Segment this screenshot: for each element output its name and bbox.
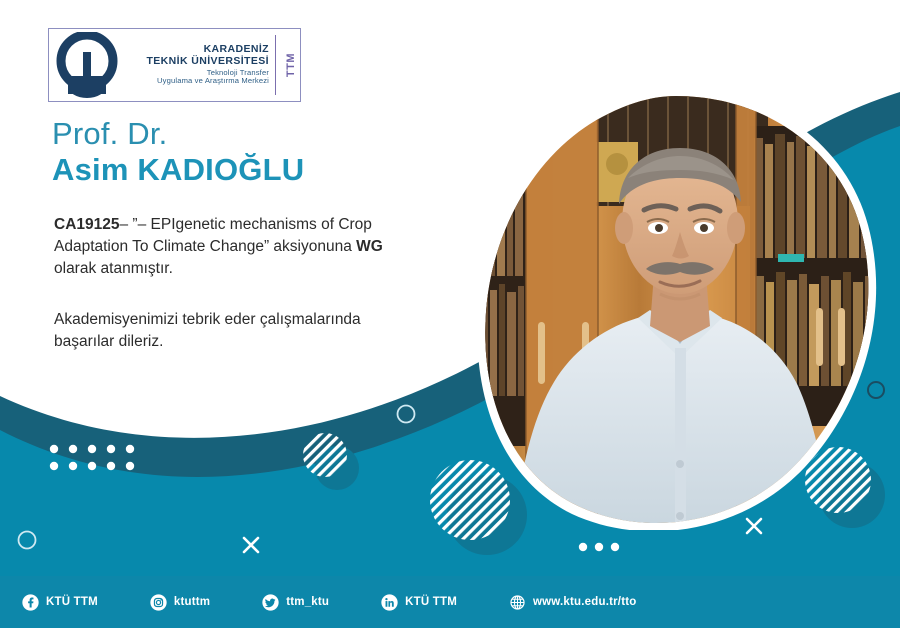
social-link-facebook[interactable]: KTÜ TTM bbox=[22, 594, 98, 611]
portrait-photo bbox=[478, 86, 882, 530]
role-abbreviation: WG bbox=[356, 238, 383, 255]
facebook-icon bbox=[22, 594, 39, 611]
logo-side-label: TTM bbox=[282, 28, 300, 102]
social-label-instagram: ktuttm bbox=[174, 596, 210, 608]
social-link-instagram[interactable]: ktuttm bbox=[150, 594, 210, 611]
title-prefix: Prof. Dr. bbox=[52, 118, 452, 151]
ktu-ttm-logo: KARADENİZ TEKNİK ÜNİVERSİTESİ Teknoloji … bbox=[48, 28, 301, 102]
ktu-circular-monogram-icon bbox=[49, 28, 123, 102]
logo-line-2: TEKNİK ÜNİVERSİTESİ bbox=[123, 56, 269, 67]
social-label-facebook: KTÜ TTM bbox=[46, 596, 98, 608]
logo-text-block: KARADENİZ TEKNİK ÜNİVERSİTESİ Teknoloji … bbox=[123, 44, 275, 85]
logo-divider bbox=[275, 35, 276, 95]
logo-line-4: Uygulama ve Araştırma Merkezi bbox=[123, 77, 269, 85]
title-name: Asim KADIOĞLU bbox=[52, 153, 452, 188]
assignment-tail: olarak atanmıştır. bbox=[54, 260, 173, 277]
announcement-paragraph-2: Akademisyenimizi tebrik eder çalışmaları… bbox=[54, 309, 384, 353]
social-link-website[interactable]: www.ktu.edu.tr/tto bbox=[509, 594, 636, 611]
announcement-poster: KARADENİZ TEKNİK ÜNİVERSİTESİ Teknoloji … bbox=[0, 0, 900, 628]
instagram-icon bbox=[150, 594, 167, 611]
social-link-twitter[interactable]: ttm_ktu bbox=[262, 594, 329, 611]
social-label-twitter: ttm_ktu bbox=[286, 596, 329, 608]
twitter-icon bbox=[262, 594, 279, 611]
social-label-linkedin: KTÜ TTM bbox=[405, 596, 457, 608]
social-link-linkedin[interactable]: KTÜ TTM bbox=[381, 594, 457, 611]
announcement-paragraph-1: CA19125– ”– EPIgenetic mechanisms of Cro… bbox=[54, 214, 414, 280]
social-label-website: www.ktu.edu.tr/tto bbox=[533, 596, 636, 608]
globe-icon bbox=[509, 594, 526, 611]
action-code: CA19125 bbox=[54, 216, 120, 233]
page-title: Prof. Dr. Asim KADIOĞLU bbox=[52, 118, 452, 187]
logo-side-label-text: TTM bbox=[285, 53, 297, 77]
linkedin-icon bbox=[381, 594, 398, 611]
social-footer-bar: KTÜ TTM ktuttm ttm_ktu bbox=[0, 576, 900, 628]
